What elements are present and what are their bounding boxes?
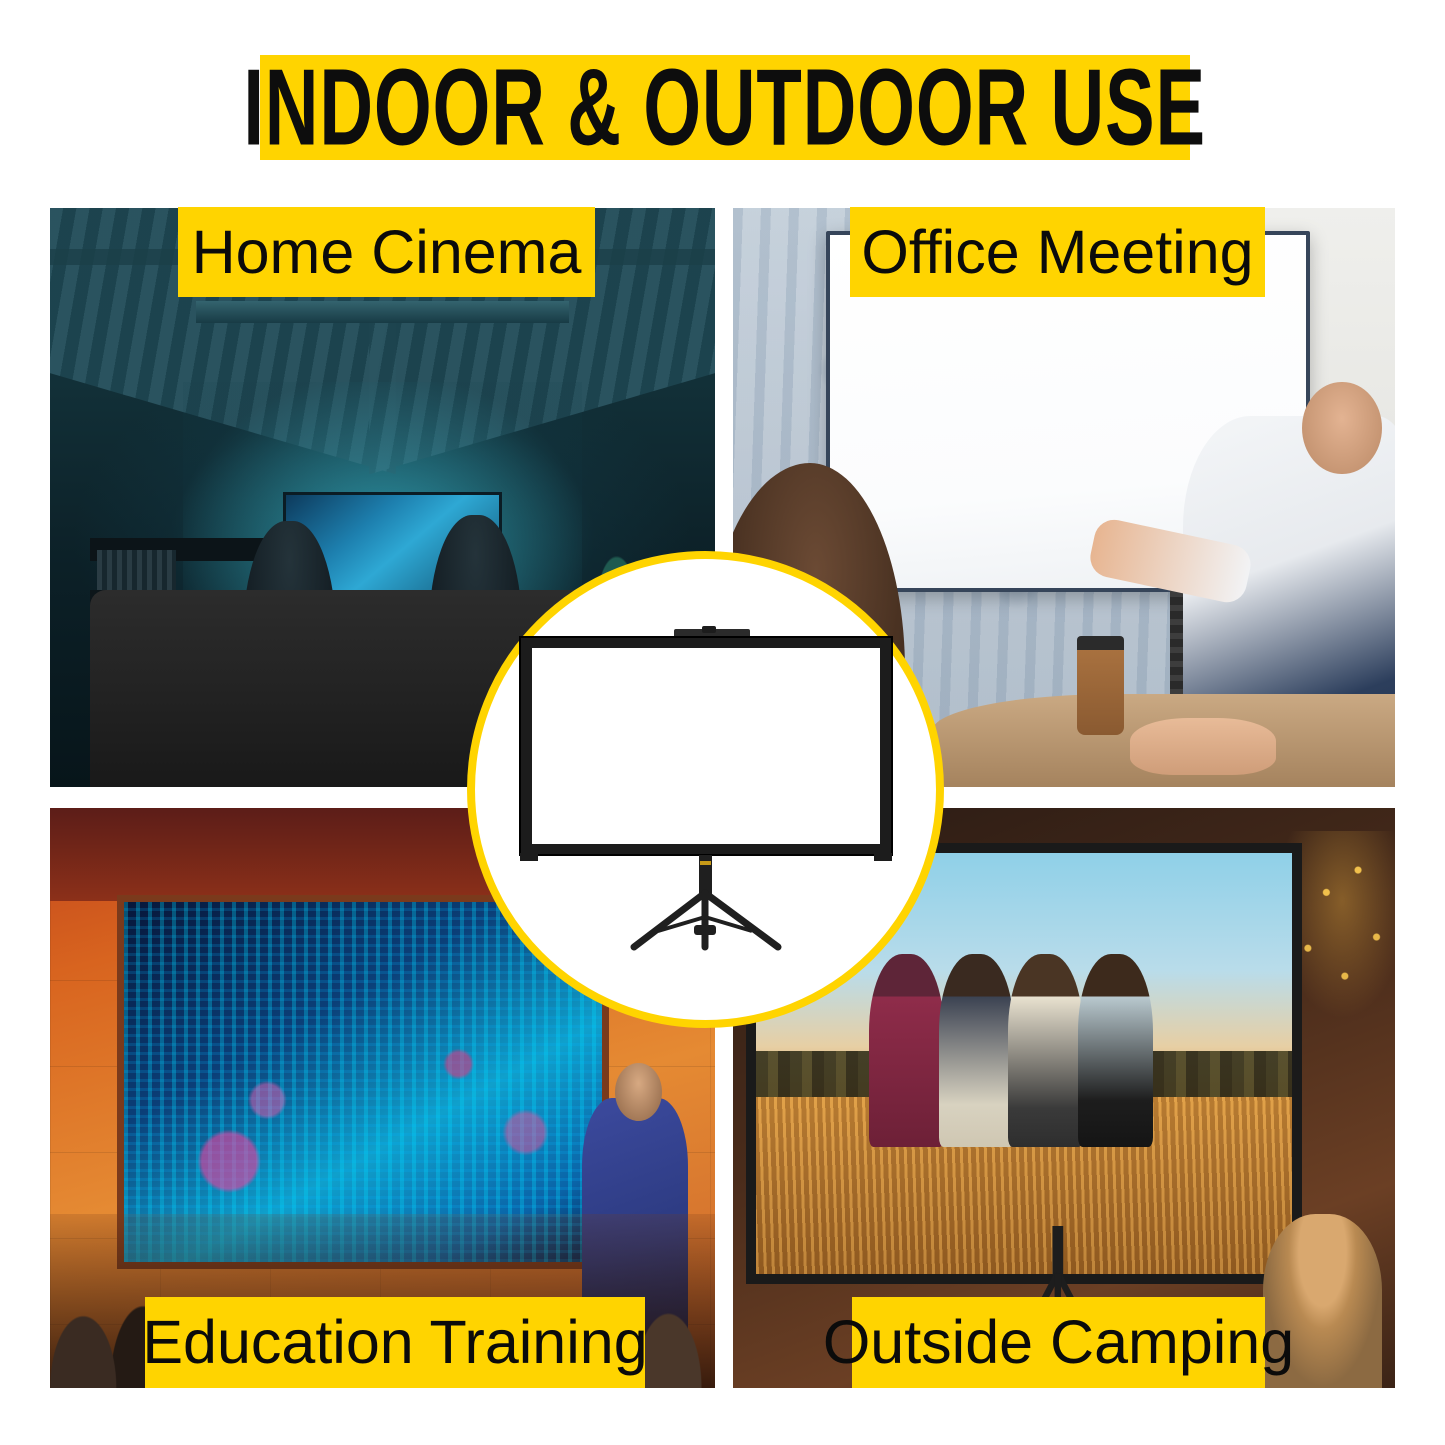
friend-1 [869,954,944,1148]
caption-label-office-meeting: Office Meeting [861,222,1253,283]
man-head [1302,382,1381,475]
resting-hand [1130,718,1276,776]
caption-badge-outside-camping: Outside Camping [852,1297,1265,1388]
friend-4 [1078,954,1153,1148]
caption-badge-education-training: Education Training [145,1297,645,1388]
infographic-root: INDOOR & OUTDOOR USE Home Cinema [0,0,1445,1445]
books [97,550,177,591]
caption-badge-office-meeting: Office Meeting [850,207,1265,297]
ceiling-beam [196,301,568,323]
coffee-cup [1077,636,1123,734]
projector-screen-icon [506,625,906,955]
header-banner: INDOOR & OUTDOOR USE [260,55,1190,160]
caption-label-education-training: Education Training [142,1312,647,1373]
product-highlight-circle [467,551,944,1028]
page-title: INDOOR & OUTDOOR USE [244,53,1207,162]
presenter-head [615,1063,662,1121]
caption-label-home-cinema: Home Cinema [192,222,582,283]
friend-3 [1008,954,1083,1148]
friend-2 [939,954,1014,1148]
caption-label-outside-camping: Outside Camping [823,1312,1294,1373]
caption-badge-home-cinema: Home Cinema [178,207,595,297]
